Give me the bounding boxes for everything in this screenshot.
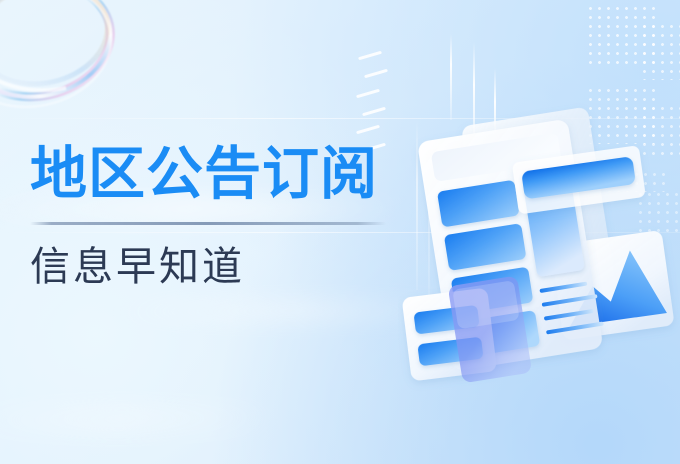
dot-grid-pattern <box>586 4 660 68</box>
page-title: 地区公告订阅 <box>30 144 430 206</box>
page-subtitle: 信息早知道 <box>30 244 430 290</box>
headline-text-block: 地区公告订阅 信息早知道 <box>30 144 430 290</box>
announcement-subscription-banner: 地区公告订阅 信息早知道 <box>0 0 680 464</box>
diagonal-dash-decor <box>364 69 388 78</box>
document-cards-illustration <box>398 96 680 396</box>
iridescent-ring-decor <box>0 0 124 118</box>
light-sweep <box>0 404 270 434</box>
diagonal-dash-decor <box>358 51 382 60</box>
dot-grid-pattern <box>640 22 680 80</box>
title-divider <box>30 222 386 225</box>
diagonal-dash-decor <box>362 107 386 116</box>
diagonal-dash-decor <box>356 125 380 134</box>
diagonal-dash-decor <box>356 89 380 98</box>
